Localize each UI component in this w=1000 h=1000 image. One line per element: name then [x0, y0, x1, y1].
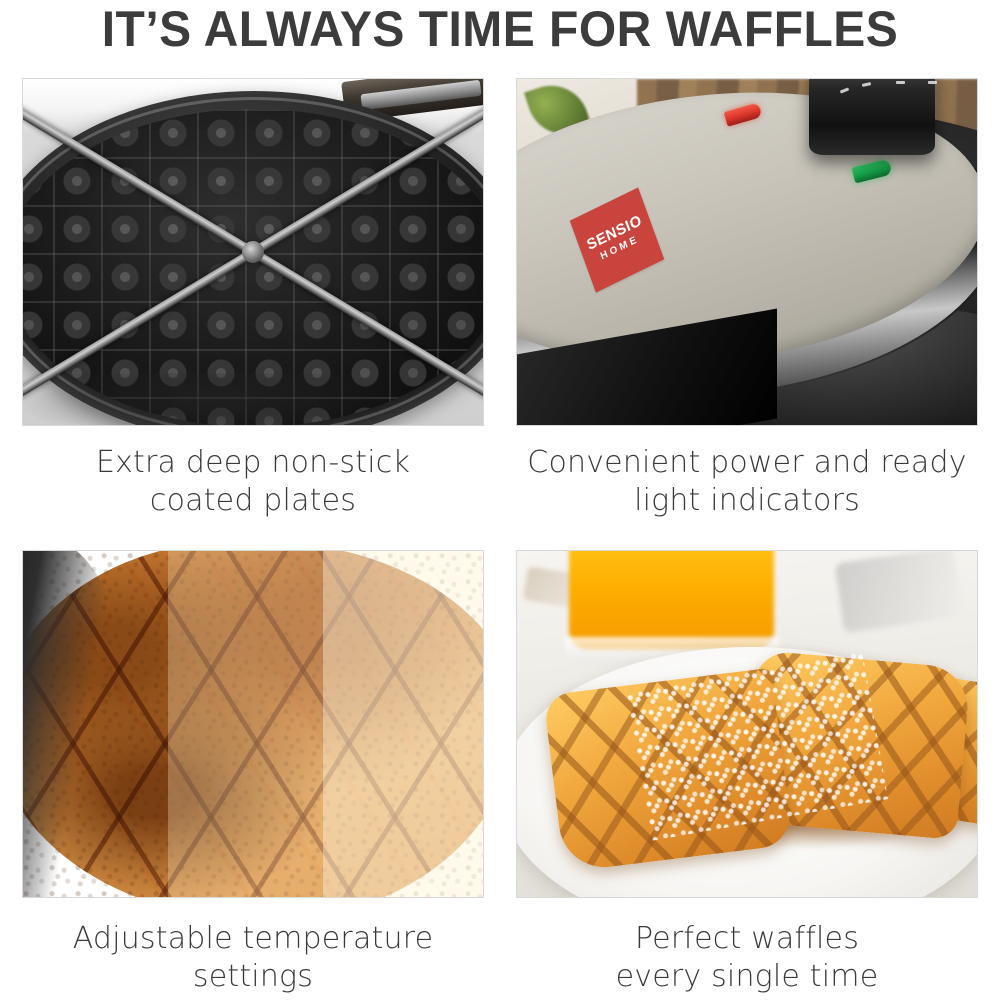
temperature-knob: [809, 78, 935, 155]
feature-caption: Adjustable temperature settings: [22, 920, 484, 996]
feature-caption: Extra deep non-stick coated plates: [22, 444, 484, 520]
knob-tick-mark: [896, 81, 905, 84]
caption-line-1: Convenient power and ready: [516, 444, 978, 482]
caption-line-1: Adjustable temperature: [22, 920, 484, 958]
waffle-wedge: [543, 668, 793, 873]
feature-card-perfect-waffles: Perfect waffles every single time: [516, 550, 978, 996]
plate-base-shadow: [22, 373, 413, 426]
feature-grid: Extra deep non-stick coated plates SENSI…: [0, 0, 1000, 1000]
caption-line-1: Extra deep non-stick: [22, 444, 484, 482]
caption-line-2: light indicators: [516, 482, 978, 520]
knob-tick-mark: [928, 81, 937, 84]
caption-line-2: every single time: [516, 958, 978, 996]
caption-line-2: coated plates: [22, 482, 484, 520]
browning-band-medium: [168, 551, 323, 897]
plate-center-hub: [242, 241, 264, 263]
lid-indicators-photo: SENSIO HOME: [516, 78, 978, 426]
plated-waffles-photo: [516, 550, 978, 898]
feature-caption: Convenient power and ready light indicat…: [516, 444, 978, 520]
feature-card-adjustable-temperature: Adjustable temperature settings: [22, 550, 484, 996]
feature-card-extra-deep-plates: Extra deep non-stick coated plates: [22, 78, 484, 520]
browning-band-light: [323, 551, 484, 897]
caption-line-2: settings: [22, 958, 484, 996]
caption-line-1: Perfect waffles: [516, 920, 978, 958]
feature-card-power-ready-lights: SENSIO HOME Convenient power and ready l…: [516, 78, 978, 520]
waffle-plate-photo: [22, 78, 484, 426]
feature-caption: Perfect waffles every single time: [516, 920, 978, 996]
orange-juice-glass: [569, 550, 774, 649]
temperature-gradient-photo: [22, 550, 484, 898]
browning-band-dark: [23, 551, 168, 897]
